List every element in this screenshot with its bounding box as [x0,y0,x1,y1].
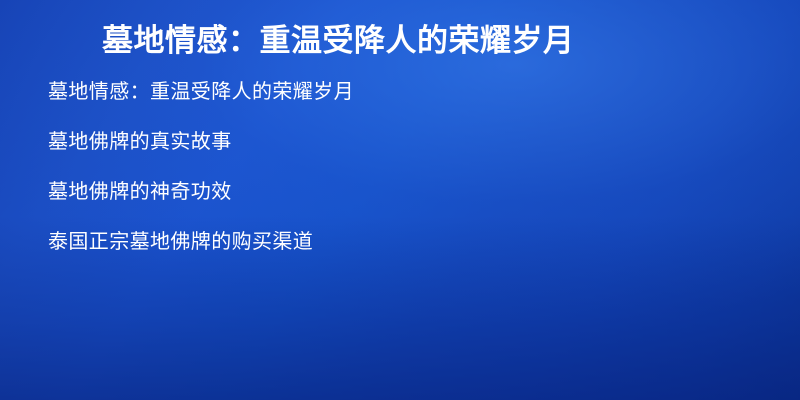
slide-content: 墓地情感：重温受降人的荣耀岁月 墓地情感：重温受降人的荣耀岁月 墓地佛牌的真实故… [0,0,800,252]
page-title: 墓地情感：重温受降人的荣耀岁月 [46,18,746,64]
list-item: 墓地佛牌的神奇功效 [48,182,760,202]
list-item: 墓地佛牌的真实故事 [48,132,760,152]
list-item: 墓地情感：重温受降人的荣耀岁月 [48,82,760,102]
slide-canvas: 墓地情感：重温受降人的荣耀岁月 墓地情感：重温受降人的荣耀岁月 墓地佛牌的真实故… [0,0,800,400]
list-item: 泰国正宗墓地佛牌的购买渠道 [48,232,760,252]
bullet-list: 墓地情感：重温受降人的荣耀岁月 墓地佛牌的真实故事 墓地佛牌的神奇功效 泰国正宗… [46,82,760,252]
